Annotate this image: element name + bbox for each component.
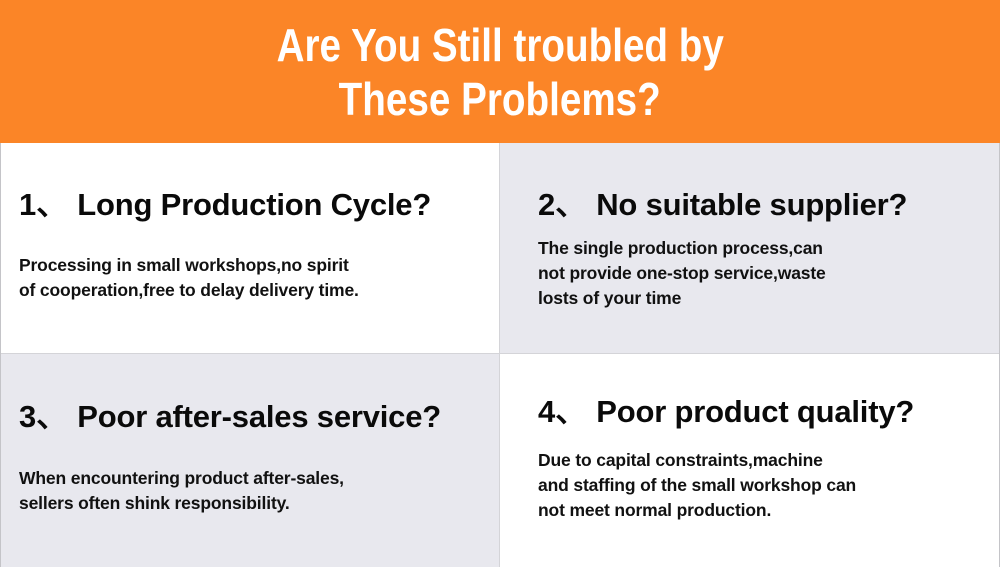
problem-card-2-title: 2、No suitable supplier? [538,187,907,223]
problem-card-3-title: 3、Poor after-sales service? [19,399,441,435]
problem-card-3-content: 3、Poor after-sales service? When encount… [1,354,499,567]
problems-poster: Are You Still troubled by These Problems… [0,0,1000,567]
problem-card-1-body: Processing in small workshops,no spirit … [19,253,489,303]
problem-card-2-number: 2、 [538,187,586,222]
problem-card-4-title: 4、Poor product quality? [538,394,914,430]
banner-title-line-2: These Problems? [339,72,661,126]
problem-card-1-title-text: Long Production Cycle? [77,187,431,222]
problem-card-1-title: 1、Long Production Cycle? [19,187,431,223]
header-banner: Are You Still troubled by These Problems… [0,0,1000,143]
problem-card-3-title-text: Poor after-sales service? [77,399,441,434]
problem-card-3-number: 3、 [19,399,67,434]
problem-card-1: 1、Long Production Cycle? Processing in s… [0,143,500,354]
problem-card-3-body: When encountering product after-sales, s… [19,466,489,516]
problem-grid: 1、Long Production Cycle? Processing in s… [0,143,1000,567]
problem-card-4-body: Due to capital constraints,machine and s… [538,448,989,523]
problem-card-2: 2、No suitable supplier? The single produ… [500,143,1000,354]
problem-card-4-title-text: Poor product quality? [596,394,914,429]
problem-card-2-body: The single production process,can not pr… [538,236,989,311]
problem-card-2-title-text: No suitable supplier? [596,187,907,222]
problem-card-4-number: 4、 [538,394,586,429]
problem-card-1-content: 1、Long Production Cycle? Processing in s… [1,143,499,353]
problem-card-3: 3、Poor after-sales service? When encount… [0,354,500,567]
frame-left-border [0,143,1,567]
problem-card-1-number: 1、 [19,187,67,222]
problem-card-4: 4、Poor product quality? Due to capital c… [500,354,1000,567]
banner-title-line-1: Are You Still troubled by [276,18,723,72]
problem-card-2-content: 2、No suitable supplier? The single produ… [500,143,999,353]
problem-card-4-content: 4、Poor product quality? Due to capital c… [500,354,999,567]
